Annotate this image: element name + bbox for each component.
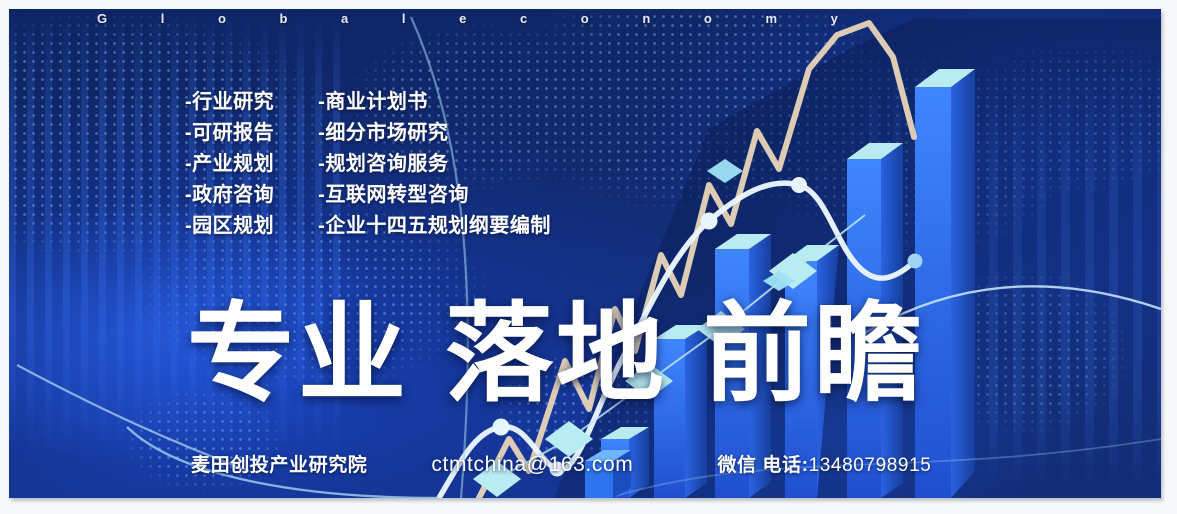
service-item: -细分市场研究: [318, 118, 551, 149]
contact-phone-number: 13480798915: [809, 455, 932, 476]
contact-phone-label: 微信 电话:: [717, 455, 808, 476]
service-column-right: -商业计划书 -细分市场研究 -规划咨询服务 -互联网转型咨询 -企业十四五规划…: [318, 87, 551, 242]
promo-banner: G l o b a l e c o n o m y -行业研究 -可研报告 -产…: [9, 9, 1161, 498]
headline-word-1: 专业: [187, 299, 409, 409]
service-item: -商业计划书: [318, 87, 551, 118]
banner-frame: G l o b a l e c o n o m y -行业研究 -可研报告 -产…: [0, 0, 1177, 514]
headline-word-2: 落地: [445, 299, 667, 409]
contact-email[interactable]: ctmtchina@163.com: [431, 453, 633, 477]
service-item: -行业研究: [185, 87, 274, 118]
service-item: -园区规划: [185, 211, 274, 242]
organization-name: 麦田创投产业研究院: [191, 450, 367, 477]
service-item: -互联网转型咨询: [318, 180, 551, 211]
bar-6: [915, 69, 975, 498]
service-item: -规划咨询服务: [318, 149, 551, 180]
service-item: -企业十四五规划纲要编制: [318, 211, 551, 242]
service-lists: -行业研究 -可研报告 -产业规划 -政府咨询 -园区规划 -商业计划书 -细分…: [185, 87, 551, 242]
contact-row: 麦田创投产业研究院 ctmtchina@163.com 微信 电话:134807…: [191, 450, 931, 477]
service-item: -产业规划: [185, 149, 274, 180]
eyebrow-text: G l o b a l e c o n o m y: [97, 11, 1097, 26]
service-column-left: -行业研究 -可研报告 -产业规划 -政府咨询 -园区规划: [185, 87, 274, 242]
headline-word-3: 前瞻: [703, 299, 925, 409]
headline: 专业 落地 前瞻: [187, 299, 925, 409]
decorative-chart-artwork: [9, 9, 1161, 498]
contact-phone: 微信 电话:13480798915: [717, 450, 931, 477]
service-item: -可研报告: [185, 118, 274, 149]
service-item: -政府咨询: [185, 180, 274, 211]
